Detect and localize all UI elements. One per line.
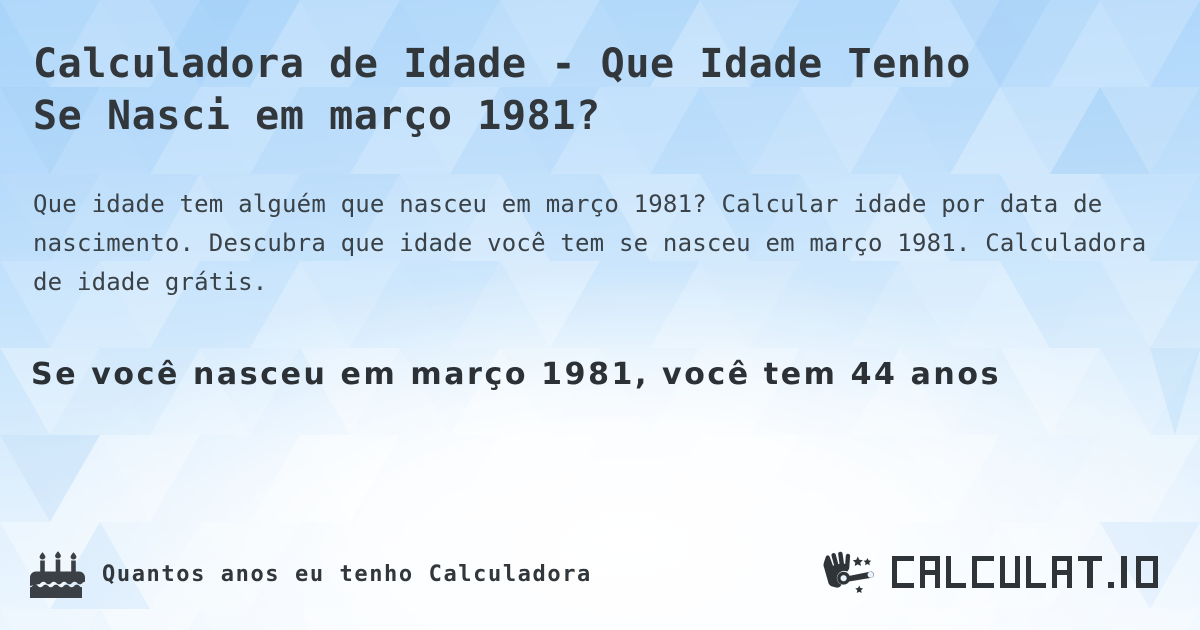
share-card: Calculadora de Idade - Que Idade Tenho S… <box>0 0 1200 630</box>
age-answer-text: Se você nasceu em março 1981, você tem 4… <box>31 357 1001 392</box>
page-description-text: Que idade tem alguém que nasceu em março… <box>33 190 1146 296</box>
age-answer: Se você nasceu em março 1981, você tem 4… <box>31 355 1171 395</box>
card-footer: Quantos anos eu tenho Calculadora <box>0 545 1200 607</box>
card-content: Calculadora de Idade - Que Idade Tenho S… <box>0 0 1200 630</box>
calculatio-logo[interactable]: CALCULAT.IO <box>822 547 1178 597</box>
page-title: Calculadora de Idade - Que Idade Tenho S… <box>33 38 1043 142</box>
page-description: Que idade tem alguém que nasceu em março… <box>33 185 1163 302</box>
site-brand[interactable]: Quantos anos eu tenho Calculadora <box>30 550 592 598</box>
site-brand-label: Quantos anos eu tenho Calculadora <box>102 562 592 587</box>
hand-magic-wand-icon <box>822 547 884 597</box>
birthday-cake-icon <box>30 550 86 598</box>
calculatio-wordmark: CALCULAT.IO <box>890 550 1178 594</box>
page-title-text: Calculadora de Idade - Que Idade Tenho S… <box>33 41 971 139</box>
